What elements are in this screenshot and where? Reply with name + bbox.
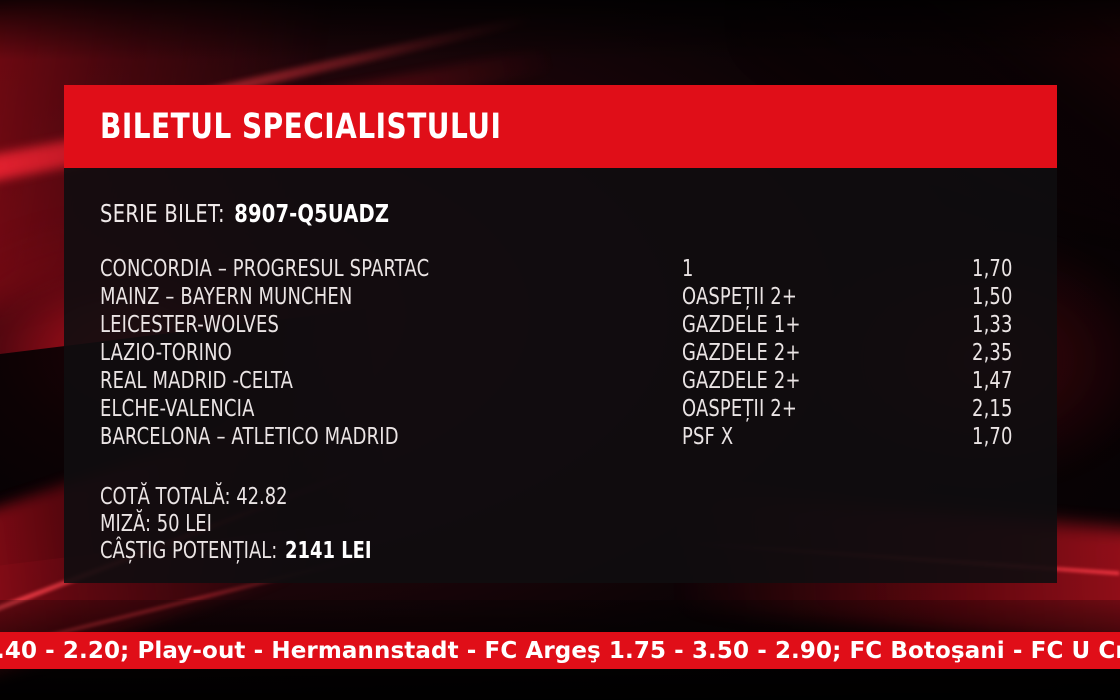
- bet-type: GAZDELE 2+: [682, 340, 972, 366]
- odds-value: 2,35: [972, 340, 1082, 366]
- match-name: REAL MADRID -CELTA: [100, 368, 682, 394]
- match-name: LEICESTER-WOLVES: [100, 312, 682, 338]
- match-name-text: LAZIO-TORINO: [100, 340, 232, 366]
- ticket-summary: COTĂ TOTALĂ: 42.82 MIZĂ: 50 LEI CÂȘTIG P…: [100, 484, 1021, 565]
- bet-type-text: GAZDELE 2+: [682, 340, 801, 366]
- match-name: LAZIO-TORINO: [100, 340, 682, 366]
- ticket-serial-value: 8907-Q5UADZ: [234, 199, 389, 228]
- match-name-text: LEICESTER-WOLVES: [100, 312, 279, 338]
- table-row: CONCORDIA – PROGRESUL SPARTAC 1 1,70: [100, 256, 1021, 284]
- bet-type-text: GAZDELE 1+: [682, 312, 801, 338]
- bet-type: PSF X: [682, 424, 972, 450]
- odds-value: 1,70: [972, 256, 1082, 282]
- ticket-header: BILETUL SPECIALISTULUI: [64, 85, 1057, 168]
- news-ticker-text: .40 - 2.20; Play-out - Hermannstadt - FC…: [0, 638, 1120, 664]
- bet-type-text: OASPEȚII 2+: [682, 396, 797, 422]
- odds-value-text: 1,33: [972, 312, 1013, 338]
- odds-value-text: 1,50: [972, 284, 1013, 310]
- bet-type: GAZDELE 2+: [682, 368, 972, 394]
- bet-type: GAZDELE 1+: [682, 312, 972, 338]
- odds-value-text: 2,15: [972, 396, 1013, 422]
- match-name: MAINZ – BAYERN MUNCHEN: [100, 284, 682, 310]
- potential-win-row: CÂȘTIG POTENȚIAL:2141 LEI: [100, 538, 1021, 565]
- background-vignette-top: [0, 0, 1120, 60]
- match-name: ELCHE-VALENCIA: [100, 396, 682, 422]
- match-name-text: CONCORDIA – PROGRESUL SPARTAC: [100, 256, 429, 282]
- selections-list: CONCORDIA – PROGRESUL SPARTAC 1 1,70 MAI…: [100, 256, 1021, 452]
- match-name: CONCORDIA – PROGRESUL SPARTAC: [100, 256, 682, 282]
- ticket-body: SERIE BILET:8907-Q5UADZ CONCORDIA – PROG…: [64, 168, 1057, 583]
- odds-value: 1,47: [972, 368, 1082, 394]
- table-row: REAL MADRID -CELTA GAZDELE 2+ 1,47: [100, 368, 1021, 396]
- bet-type-text: OASPEȚII 2+: [682, 284, 797, 310]
- bet-type-text: PSF X: [682, 424, 733, 450]
- ticket-serial: SERIE BILET:8907-Q5UADZ: [100, 199, 1021, 229]
- odds-value-text: 1,47: [972, 368, 1013, 394]
- bet-type-text: 1: [682, 256, 694, 282]
- match-name-text: ELCHE-VALENCIA: [100, 396, 255, 422]
- bet-type: 1: [682, 256, 972, 282]
- bet-type: OASPEȚII 2+: [682, 284, 972, 310]
- stake-row: MIZĂ: 50 LEI: [100, 511, 1021, 538]
- odds-value: 2,15: [972, 396, 1082, 422]
- odds-value-text: 2,35: [972, 340, 1013, 366]
- match-name: BARCELONA – ATLETICO MADRID: [100, 424, 682, 450]
- ticket-serial-label: SERIE BILET:: [100, 199, 225, 228]
- match-name-text: BARCELONA – ATLETICO MADRID: [100, 424, 399, 450]
- match-name-text: REAL MADRID -CELTA: [100, 368, 293, 394]
- stake-text: MIZĂ: 50 LEI: [100, 511, 212, 537]
- betting-ticket-panel: BILETUL SPECIALISTULUI SERIE BILET:8907-…: [64, 85, 1057, 583]
- odds-value-text: 1,70: [972, 424, 1013, 450]
- bet-type-text: GAZDELE 2+: [682, 368, 801, 394]
- odds-value: 1,50: [972, 284, 1082, 310]
- news-ticker-bar: .40 - 2.20; Play-out - Hermannstadt - FC…: [0, 632, 1120, 669]
- odds-value: 1,33: [972, 312, 1082, 338]
- table-row: BARCELONA – ATLETICO MADRID PSF X 1,70: [100, 424, 1021, 452]
- total-odds-text: COTĂ TOTALĂ: 42.82: [100, 484, 288, 510]
- table-row: LEICESTER-WOLVES GAZDELE 1+ 1,33: [100, 312, 1021, 340]
- odds-value: 1,70: [972, 424, 1082, 450]
- total-odds-row: COTĂ TOTALĂ: 42.82: [100, 484, 1021, 511]
- page-title: BILETUL SPECIALISTULUI: [100, 107, 501, 147]
- table-row: LAZIO-TORINO GAZDELE 2+ 2,35: [100, 340, 1021, 368]
- potential-win-value: 2141 LEI: [285, 538, 372, 564]
- table-row: ELCHE-VALENCIA OASPEȚII 2+ 2,15: [100, 396, 1021, 424]
- broadcast-graphic-stage: BILETUL SPECIALISTULUI SERIE BILET:8907-…: [0, 0, 1120, 700]
- odds-value-text: 1,70: [972, 256, 1013, 282]
- match-name-text: MAINZ – BAYERN MUNCHEN: [100, 284, 352, 310]
- table-row: MAINZ – BAYERN MUNCHEN OASPEȚII 2+ 1,50: [100, 284, 1021, 312]
- potential-win-label: CÂȘTIG POTENȚIAL:: [100, 538, 277, 564]
- bet-type: OASPEȚII 2+: [682, 396, 972, 422]
